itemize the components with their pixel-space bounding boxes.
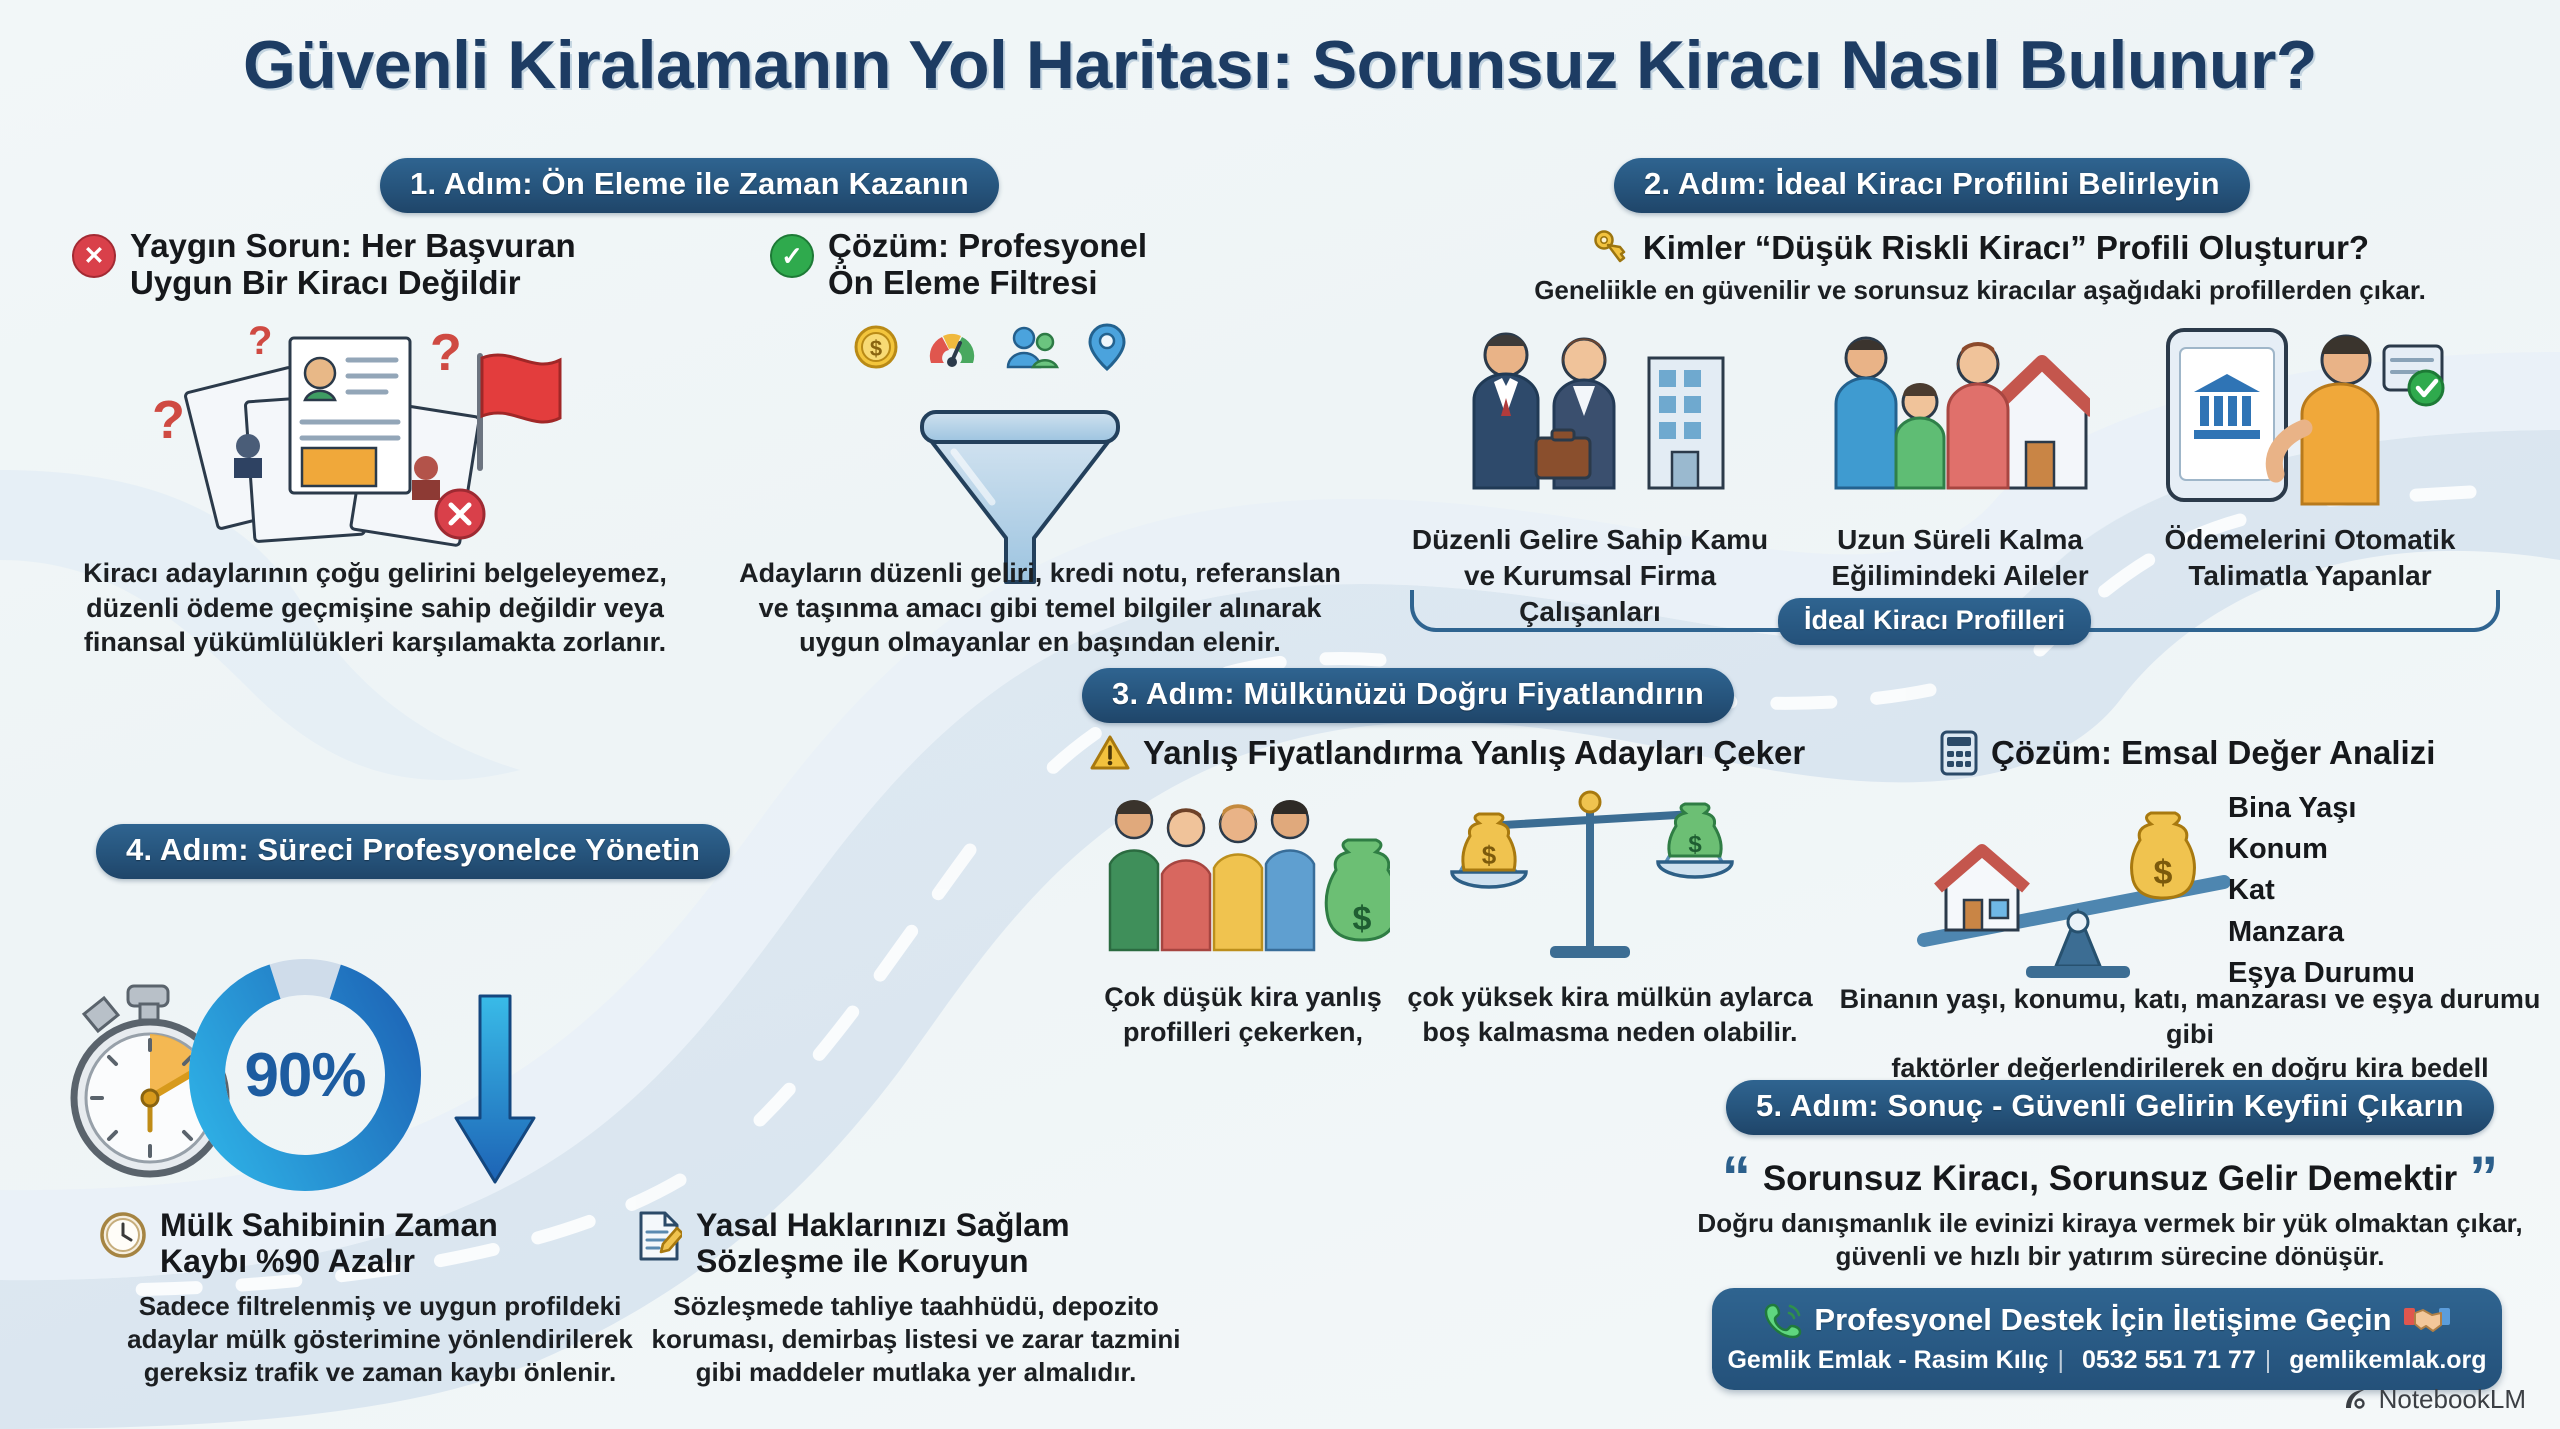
balance-scale-money-icon: $ $ bbox=[1440, 780, 1740, 970]
step-3-pill-wrap: 3. Adım: Mülkünüzü Doğru Fiyatlandırın bbox=[1082, 668, 1734, 723]
step-1-pill-wrap: 1. Adım: Ön Eleme ile Zaman Kazanın bbox=[380, 158, 999, 213]
watermark-label: NotebookLM bbox=[2379, 1384, 2526, 1415]
people-icon bbox=[1004, 323, 1060, 371]
contact-headline: Profesyonel Destek İçin İletişime Geçin bbox=[1814, 1302, 2391, 1338]
step-4-card-2-heading-line-1: Yasal Haklarınızı Sağlam bbox=[696, 1208, 1070, 1244]
step-1-pill[interactable]: 1. Adım: Ön Eleme ile Zaman Kazanın bbox=[380, 158, 999, 213]
handshake-icon bbox=[2404, 1303, 2450, 1337]
step-3-left-heading: Yanlış Fiyatlandırma Yanlış Adayları Çek… bbox=[1143, 735, 1805, 772]
notebooklm-icon bbox=[2342, 1386, 2370, 1414]
label-line: Düzenli Gelire Sahip Kamu bbox=[1400, 522, 1780, 558]
step-4-pill-wrap: 4. Adım: Süreci Profesyonelce Yönetin bbox=[96, 824, 730, 879]
step-2-pill-wrap: 2. Adım: İdeal Kiracı Profilini Belirley… bbox=[1614, 158, 2250, 213]
caption-line: güvenli ve hızlı bir yatırım sürecine dö… bbox=[1680, 1240, 2540, 1273]
caption-line: çok yüksek kira mülkün aylarca bbox=[1400, 980, 1820, 1015]
contact-agency: Gemlik Emlak - Rasim Kılıç bbox=[1727, 1346, 2048, 1375]
quote-close-icon: ” bbox=[2469, 1158, 2498, 1199]
caption-line: Çok düşük kira yanlış bbox=[1078, 980, 1408, 1015]
contact-bar[interactable]: Profesyonel Destek İçin İletişime Geçin … bbox=[1712, 1288, 2502, 1390]
page-title: Güvenli Kiralamanın Yol Haritası: Soruns… bbox=[0, 26, 2560, 104]
business-couple-office-icon bbox=[1444, 320, 1734, 510]
family-house-icon bbox=[1810, 320, 2090, 510]
phone-ringing-icon bbox=[1764, 1301, 1802, 1339]
svg-text:$: $ bbox=[870, 336, 882, 361]
contract-pen-icon bbox=[636, 1210, 682, 1262]
step-1-solution-heading-line-2: Ön Eleme Filtresi bbox=[828, 265, 1147, 302]
step-5-quote: Sorunsuz Kiracı, Sorunsuz Gelir Demektir bbox=[1763, 1159, 2457, 1198]
quote-open-icon: “ bbox=[1722, 1158, 1751, 1199]
factor-item: Konum bbox=[2228, 829, 2415, 870]
step-5-caption: Doğru danışmanlık ile evinizi kiraya ver… bbox=[1680, 1207, 2540, 1274]
step-1-problem-heading-line-2: Uygun Bir Kiracı Değildir bbox=[130, 265, 576, 302]
svg-text:$: $ bbox=[2154, 854, 2173, 892]
ideal-profiles-label: İdeal Kiracı Profilleri bbox=[1778, 598, 2091, 645]
step-4-card-1-heading-line-1: Mülk Sahibinin Zaman bbox=[160, 1208, 498, 1244]
step-4-pill[interactable]: 4. Adım: Süreci Profesyonelce Yönetin bbox=[96, 824, 730, 879]
step-1-problem-block: ✕ Yaygın Sorun: Her Başvuran Uygun Bir K… bbox=[72, 228, 652, 302]
caption-line: koruması, demirbaş listesi ve zarar tazm… bbox=[636, 1323, 1196, 1356]
caption-line: ve taşınma amacı gibi temel bilgiler alı… bbox=[690, 591, 1390, 626]
factor-item: Kat bbox=[2228, 870, 2415, 911]
caption-line: finansal yükümlülükleri karşılamakta zor… bbox=[40, 625, 710, 660]
step-1-solution-heading-line-1: Çözüm: Profesyonel bbox=[828, 228, 1147, 265]
caption-line: Binanın yaşı, konumu, katı, manzarası ve… bbox=[1830, 982, 2550, 1051]
step-4-card-2-heading-line-2: Sözleşme ile Koruyun bbox=[696, 1244, 1070, 1280]
caption-line: Sözleşmede tahliye taahhüdü, depozito bbox=[636, 1290, 1196, 1323]
step-4-card-1-heading-line-2: Kaybı %90 Azalır bbox=[160, 1244, 498, 1280]
step-1-solution-caption: Adayların düzenli geliri, kredi notu, re… bbox=[690, 556, 1390, 660]
caption-line: Kiracı adaylarının çoğu gelirini belgele… bbox=[40, 556, 710, 591]
step-1-criteria-icons: $ bbox=[852, 322, 1128, 372]
caption-line: düzenli ödeme geçmişine sahip değildir v… bbox=[40, 591, 710, 626]
step-3-pill[interactable]: 3. Adım: Mülkünüzü Doğru Fiyatlandırın bbox=[1082, 668, 1734, 723]
step-2-profile-label-3: Ödemelerini Otomatik Talimatla Yapanlar bbox=[2140, 522, 2480, 594]
check-circle-icon: ✓ bbox=[770, 234, 814, 278]
step-4-card-1-caption: Sadece filtrelenmiş ve uygun profildeki … bbox=[100, 1290, 660, 1390]
caption-line: gereksiz trafik ve zaman kaybı önlenir. bbox=[100, 1356, 660, 1389]
caption-line: Adayların düzenli geliri, kredi notu, re… bbox=[690, 556, 1390, 591]
step-2-heading-wrap: Kimler “Düşük Riskli Kiracı” Profili Olu… bbox=[1420, 228, 2540, 307]
mobile-banking-autopay-icon bbox=[2150, 316, 2450, 511]
caption-line: adaylar mülk gösterimine yönlendirilerek bbox=[100, 1323, 660, 1356]
credit-gauge-icon bbox=[926, 323, 978, 371]
svg-text:$: $ bbox=[1353, 900, 1372, 938]
step-3-left-caption-1: Çok düşük kira yanlış profilleri çekerke… bbox=[1078, 980, 1408, 1049]
label-line: Uzun Süreli Kalma bbox=[1790, 522, 2130, 558]
step-2-heading: Kimler “Düşük Riskli Kiracı” Profili Olu… bbox=[1643, 230, 2369, 267]
step-4-card-2-caption: Sözleşmede tahliye taahhüdü, depozito ko… bbox=[636, 1290, 1196, 1390]
step-5-quote-wrap: “ Sorunsuz Kiracı, Sorunsuz Gelir Demekt… bbox=[1680, 1158, 2540, 1273]
emsal-factor-list: Bina Yaşı Konum Kat Manzara Eşya Durumu bbox=[2228, 788, 2415, 994]
caption-line: Sadece filtrelenmiş ve uygun profildeki bbox=[100, 1290, 660, 1323]
scattered-applications-red-flag-icon: ? ? ? bbox=[130, 318, 580, 548]
donut-percent-label: 90% bbox=[175, 945, 435, 1205]
contact-phone[interactable]: 0532 551 71 77 bbox=[2082, 1346, 2256, 1375]
factor-item: Bina Yaşı bbox=[2228, 788, 2415, 829]
caption-line: gibi maddeler mutlaka yer almalıdır. bbox=[636, 1356, 1196, 1389]
label-line: Ödemelerini Otomatik bbox=[2140, 522, 2480, 558]
svg-text:$: $ bbox=[1688, 831, 1702, 858]
label-line: Talimatla Yapanlar bbox=[2140, 558, 2480, 594]
step-5-pill[interactable]: 5. Adım: Sonuç - Güvenli Gelirin Keyfini… bbox=[1726, 1080, 2494, 1135]
label-line: Eğilimindeki Aileler bbox=[1790, 558, 2130, 594]
step-2-pill[interactable]: 2. Adım: İdeal Kiracı Profilini Belirley… bbox=[1614, 158, 2250, 213]
coin-dollar-icon: $ bbox=[852, 323, 900, 371]
svg-text:$: $ bbox=[1482, 840, 1497, 870]
step-4-card-1: Mülk Sahibinin Zaman Kaybı %90 Azalır Sa… bbox=[100, 1208, 660, 1389]
notebooklm-watermark: NotebookLM bbox=[2342, 1384, 2526, 1415]
progress-donut: 90% bbox=[175, 945, 435, 1205]
caption-line: uygun olmayanlar en başından elenir. bbox=[690, 625, 1390, 660]
step-4-card-2: Yasal Haklarınızı Sağlam Sözleşme ile Ko… bbox=[636, 1208, 1196, 1389]
step-2-subheading: Geneliikle en güvenilir ve sorunsuz kira… bbox=[1420, 274, 2540, 307]
key-icon bbox=[1591, 228, 1631, 268]
step-3-left-caption-2: çok yüksek kira mülkün aylarca boş kalma… bbox=[1400, 980, 1820, 1049]
svg-text:?: ? bbox=[248, 319, 272, 363]
step-3-right-heading-wrap: Çözüm: Emsal Değer Analizi bbox=[1940, 730, 2560, 776]
clock-icon bbox=[100, 1212, 146, 1258]
step-1-solution-block: ✓ Çözüm: Profesyonel Ön Eleme Filtresi bbox=[770, 228, 1330, 302]
infographic-canvas: Güvenli Kiralamanın Yol Haritası: Soruns… bbox=[0, 0, 2560, 1429]
caption-line: profilleri çekerken, bbox=[1078, 1015, 1408, 1050]
svg-text:?: ? bbox=[430, 324, 462, 382]
separator-2: | bbox=[2265, 1346, 2272, 1375]
step-1-problem-heading-line-1: Yaygın Sorun: Her Başvuran bbox=[130, 228, 576, 265]
crowd-money-bag-icon: $ bbox=[1100, 790, 1390, 970]
factor-item: Manzara bbox=[2228, 912, 2415, 953]
separator-1: | bbox=[2057, 1346, 2064, 1375]
step-3-left-heading-wrap: Yanlış Fiyatlandırma Yanlış Adayları Çek… bbox=[1090, 734, 1940, 772]
step-2-profile-label-2: Uzun Süreli Kalma Eğilimindeki Aileler bbox=[1790, 522, 2130, 594]
step-3-right-heading: Çözüm: Emsal Değer Analizi bbox=[1991, 735, 2435, 772]
caption-line: boş kalmasma neden olabilir. bbox=[1400, 1015, 1820, 1050]
location-pin-icon bbox=[1086, 322, 1128, 372]
svg-text:?: ? bbox=[152, 390, 185, 450]
caption-line: Doğru danışmanlık ile evinizi kiraya ver… bbox=[1680, 1207, 2540, 1240]
calculator-icon bbox=[1940, 730, 1978, 776]
step-5-pill-wrap: 5. Adım: Sonuç - Güvenli Gelirin Keyfini… bbox=[1726, 1080, 2494, 1135]
step-1-problem-caption: Kiracı adaylarının çoğu gelirini belgele… bbox=[40, 556, 710, 660]
down-arrow-icon bbox=[450, 990, 540, 1190]
x-circle-icon: ✕ bbox=[72, 234, 116, 278]
warning-triangle-icon bbox=[1090, 734, 1130, 772]
seesaw-house-money-icon: $ bbox=[1906, 790, 2246, 980]
contact-website[interactable]: gemlikemlak.org bbox=[2289, 1346, 2486, 1375]
